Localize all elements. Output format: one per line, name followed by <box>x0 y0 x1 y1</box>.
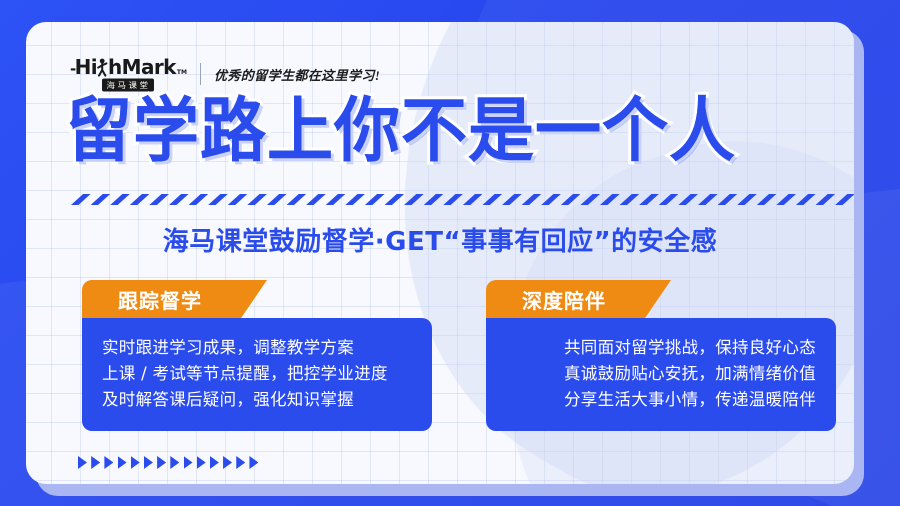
arrow-mark <box>223 456 232 469</box>
card-title: 深度陪伴 <box>486 285 606 314</box>
dash-mark <box>345 194 365 205</box>
arrow-mark <box>144 456 153 469</box>
header-divider <box>200 63 201 85</box>
dash-mark <box>482 194 502 205</box>
dash-mark <box>365 194 385 205</box>
content-panel: -Hi hMarkTM 海马课堂 优秀的留学生都在这里学习! 留学路上你不是一个… <box>26 22 854 484</box>
dash-mark <box>110 194 130 205</box>
dash-mark <box>522 194 542 205</box>
dash-mark <box>796 194 816 205</box>
arrow-mark <box>157 456 166 469</box>
dash-mark <box>189 194 209 205</box>
dash-mark <box>718 194 738 205</box>
dash-mark <box>149 194 169 205</box>
logo-trademark: TM <box>177 70 187 76</box>
dash-divider <box>71 194 854 208</box>
brand-header: -Hi hMarkTM 海马课堂 优秀的留学生都在这里学习! <box>70 58 380 90</box>
dash-mark <box>130 194 150 205</box>
dash-mark <box>169 194 189 205</box>
card-body-line: 及时解答课后疑问，强化知识掌握 <box>102 387 412 413</box>
arrow-mark <box>197 456 206 469</box>
arrow-decoration <box>78 456 258 469</box>
card-header-banner: 深度陪伴 <box>486 280 671 318</box>
arrow-mark <box>184 456 193 469</box>
dash-mark <box>776 194 796 205</box>
dash-mark <box>306 194 326 205</box>
dash-mark <box>247 194 267 205</box>
dash-mark <box>737 194 757 205</box>
dash-mark <box>463 194 483 205</box>
brand-tagline: 优秀的留学生都在这里学习! <box>214 65 380 84</box>
card-body-line: 实时跟进学习成果，调整教学方案 <box>102 335 412 361</box>
arrow-mark <box>91 456 100 469</box>
dash-mark <box>580 194 600 205</box>
arrow-mark <box>170 456 179 469</box>
card-title: 跟踪督学 <box>82 285 202 314</box>
card-header-banner: 跟踪督学 <box>82 280 267 318</box>
poster-background: -Hi hMarkTM 海马课堂 优秀的留学生都在这里学习! 留学路上你不是一个… <box>0 0 900 506</box>
page-title: 留学路上你不是一个人 <box>66 96 816 166</box>
dash-mark <box>502 194 522 205</box>
dash-mark <box>835 194 854 205</box>
dash-mark <box>267 194 287 205</box>
dash-mark <box>561 194 581 205</box>
arrow-mark <box>249 456 258 469</box>
dash-mark <box>698 194 718 205</box>
dash-mark <box>600 194 620 205</box>
card-body-line: 真诚鼓励贴心安抚，加满情绪价值 <box>506 361 816 387</box>
arrow-mark <box>236 456 245 469</box>
dash-mark <box>71 194 91 205</box>
logo-wordmark: -Hi hMarkTM <box>70 57 187 77</box>
logo-word-first: Hi <box>75 57 97 77</box>
arrow-mark <box>118 456 127 469</box>
arrow-mark <box>131 456 140 469</box>
feature-card-tracking: 跟踪督学 实时跟进学习成果，调整教学方案 上课 / 考试等节点提醒，把控学业进度… <box>82 280 432 431</box>
dash-mark <box>91 194 111 205</box>
page-subtitle: 海马课堂鼓励督学·GET“事事有回应”的安全感 <box>26 221 854 258</box>
dash-mark <box>287 194 307 205</box>
logo: -Hi hMarkTM 海马课堂 <box>70 57 187 92</box>
card-body: 共同面对留学挑战，保持良好心态 真诚鼓励贴心安抚，加满情绪价值 分享生活大事小情… <box>486 318 836 431</box>
dash-mark <box>541 194 561 205</box>
arrow-mark <box>210 456 219 469</box>
dash-mark <box>757 194 777 205</box>
arrow-mark <box>104 456 113 469</box>
card-body: 实时跟进学习成果，调整教学方案 上课 / 考试等节点提醒，把控学业进度 及时解答… <box>82 318 432 431</box>
dash-mark <box>816 194 836 205</box>
dash-mark <box>659 194 679 205</box>
dash-mark <box>424 194 444 205</box>
dash-mark <box>326 194 346 205</box>
dash-mark <box>678 194 698 205</box>
card-body-line: 分享生活大事小情，传递温暖陪伴 <box>506 387 816 413</box>
feature-card-companionship: 深度陪伴 共同面对留学挑战，保持良好心态 真诚鼓励贴心安抚，加满情绪价值 分享生… <box>486 280 836 431</box>
dash-mark <box>385 194 405 205</box>
logo-word-second: hMark <box>108 57 176 77</box>
poster-content: -Hi hMarkTM 海马课堂 优秀的留学生都在这里学习! 留学路上你不是一个… <box>26 22 854 484</box>
dash-mark <box>228 194 248 205</box>
dash-mark <box>639 194 659 205</box>
dash-mark <box>208 194 228 205</box>
dash-mark <box>443 194 463 205</box>
card-body-line: 上课 / 考试等节点提醒，把控学业进度 <box>102 361 412 387</box>
dash-mark <box>620 194 640 205</box>
card-body-line: 共同面对留学挑战，保持良好心态 <box>506 335 816 361</box>
arrow-mark <box>78 456 87 469</box>
dash-mark <box>404 194 424 205</box>
